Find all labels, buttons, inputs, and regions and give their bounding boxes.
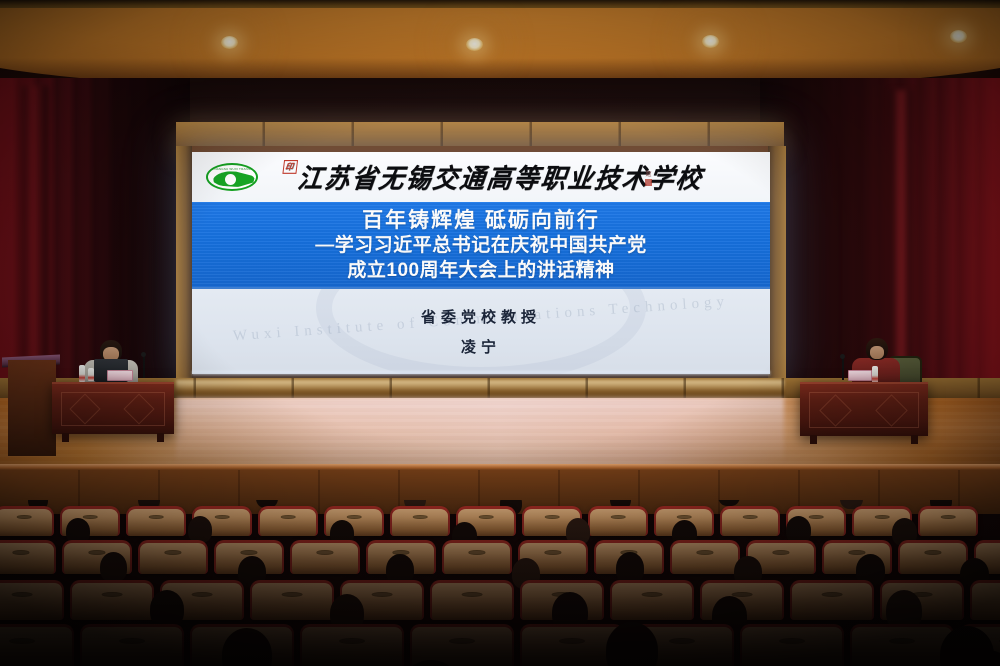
seat-number-tag — [372, 592, 393, 597]
seat[interactable] — [126, 506, 186, 536]
seat-number-tag — [339, 638, 365, 644]
seat[interactable] — [0, 506, 54, 536]
seal-right-text: 题 — [645, 172, 651, 178]
seal-left-icon: 印 — [282, 160, 298, 174]
seat[interactable] — [970, 580, 1000, 620]
seat-number-tag — [809, 515, 824, 519]
downlight-2-icon — [466, 38, 483, 51]
seat-number-tag — [544, 550, 561, 554]
seat-number-tag — [468, 550, 485, 554]
seat[interactable] — [790, 580, 874, 620]
seat-number-tag — [88, 550, 105, 554]
screen-bottom-glow — [192, 371, 770, 376]
presenter-right-face — [870, 346, 884, 359]
seat-number-tag — [102, 592, 123, 597]
seat-number-tag — [282, 592, 303, 597]
seat-number-tag — [9, 638, 35, 644]
seat-number-tag — [413, 515, 428, 519]
seat-number-tag — [192, 592, 213, 597]
microphone-left-stem — [143, 356, 145, 378]
seat-number-tag — [642, 592, 663, 597]
seat[interactable] — [0, 580, 64, 620]
seat[interactable] — [258, 506, 318, 536]
downlight-1-icon — [221, 36, 238, 49]
slide-title-line-2: —学习习近平总书记在庆祝中国共产党 — [315, 234, 647, 259]
seat[interactable] — [898, 540, 968, 574]
water-bottle-right — [872, 366, 878, 383]
seat[interactable] — [70, 580, 154, 620]
seat-number-tag — [215, 515, 230, 519]
nameplate-right — [848, 370, 872, 381]
seat-number-tag — [779, 638, 805, 644]
seat[interactable] — [138, 540, 208, 574]
auditorium-scene: JIANGSU WUXI TRANSPORTATION 印江苏省无锡交通高等职业… — [0, 0, 1000, 666]
seat-number-tag — [677, 515, 692, 519]
seat-number-tag — [316, 550, 333, 554]
seat-number-tag — [669, 638, 695, 644]
seat[interactable] — [390, 506, 450, 536]
seat-number-tag — [696, 550, 713, 554]
seat-number-tag — [164, 550, 181, 554]
microphone-left-head — [141, 352, 146, 357]
microphone-right-stem — [842, 358, 844, 380]
wooden-desk-left — [52, 382, 174, 434]
seat[interactable] — [918, 506, 978, 536]
seat-number-tag — [545, 515, 560, 519]
seat[interactable] — [80, 624, 184, 666]
speaker-name: 凌宁 — [461, 336, 501, 357]
curtain-fold-left — [22, 86, 48, 386]
slide-body: Wuxi Institute of Communications Technol… — [192, 289, 770, 374]
seat[interactable] — [430, 580, 514, 620]
seat-number-tag — [941, 515, 956, 519]
seat[interactable] — [300, 624, 404, 666]
slide-title-line-1: 百年铸辉煌 砥砺向前行 — [362, 208, 600, 234]
seat[interactable] — [250, 580, 334, 620]
microphone-right-head — [840, 354, 845, 359]
seat-number-tag — [12, 550, 29, 554]
logo-arc-text: JIANGSU WUXI TRANSPORTATION — [214, 167, 254, 173]
seat[interactable] — [442, 540, 512, 574]
seat-number-tag — [12, 592, 33, 597]
seat[interactable] — [610, 580, 694, 620]
seat-number-tag — [559, 638, 585, 644]
desk-left-leg-1 — [62, 433, 69, 442]
slide-title-band: 百年铸辉煌 砥砺向前行 —学习习近平总书记在庆祝中国共产党 成立100周年大会上… — [192, 202, 770, 289]
seat-number-tag — [240, 550, 257, 554]
projection-screen: JIANGSU WUXI TRANSPORTATION 印江苏省无锡交通高等职业… — [192, 152, 770, 374]
seat-number-tag — [875, 515, 890, 519]
seat-number-tag — [924, 550, 941, 554]
water-bottle-left-1 — [79, 365, 85, 382]
school-name-text: 江苏省无锡交通高等职业技术学校 — [296, 165, 705, 194]
seal-stamp — [645, 179, 652, 186]
seat[interactable] — [740, 624, 844, 666]
seat-number-tag — [772, 550, 789, 554]
seat-number-tag — [479, 515, 494, 519]
seat-number-tag — [611, 515, 626, 519]
downlight-3-icon — [702, 35, 719, 48]
nameplate-left — [107, 370, 133, 381]
seat-number-tag — [743, 515, 758, 519]
seat-number-tag — [17, 515, 32, 519]
screen-frame-right — [768, 146, 786, 390]
seat[interactable] — [0, 624, 74, 666]
desk-left-leg-2 — [157, 433, 164, 442]
school-logo-icon: JIANGSU WUXI TRANSPORTATION — [206, 163, 258, 191]
speaker-role: 省委党校教授 — [421, 306, 541, 327]
seat-number-tag — [347, 515, 362, 519]
attendee-head — [188, 516, 212, 543]
attendee-head — [100, 552, 127, 582]
downlight-4-icon — [950, 30, 967, 43]
wooden-desk-right — [800, 382, 928, 436]
seat-number-tag — [119, 638, 145, 644]
school-name-calligraphy: 印江苏省无锡交通高等职业技术学校 — [280, 158, 706, 196]
seat-number-tag — [462, 592, 483, 597]
slide-title-line-3: 成立100周年大会上的讲话精神 — [347, 259, 614, 284]
water-bottle-left-2 — [88, 368, 94, 381]
seat[interactable] — [290, 540, 360, 574]
seat[interactable] — [588, 506, 648, 536]
seat[interactable] — [0, 540, 56, 574]
seal-right-icon: 题 — [645, 172, 652, 186]
seat[interactable] — [670, 540, 740, 574]
seat[interactable] — [850, 624, 954, 666]
attendee-head — [150, 590, 184, 628]
seat-number-tag — [83, 515, 98, 519]
slide-header: JIANGSU WUXI TRANSPORTATION 印江苏省无锡交通高等职业… — [192, 152, 770, 202]
desk-right-leg-1 — [810, 435, 817, 444]
seat-number-tag — [848, 550, 865, 554]
seat-number-tag — [449, 638, 475, 644]
seat-number-tag — [281, 515, 296, 519]
desk-right-leg-2 — [911, 435, 918, 444]
audience-area — [0, 500, 1000, 666]
seat-number-tag — [149, 515, 164, 519]
seat-number-tag — [889, 638, 915, 644]
lectern — [8, 360, 56, 456]
screen-frame-left — [176, 146, 192, 390]
seat[interactable] — [720, 506, 780, 536]
seat-number-tag — [822, 592, 843, 597]
